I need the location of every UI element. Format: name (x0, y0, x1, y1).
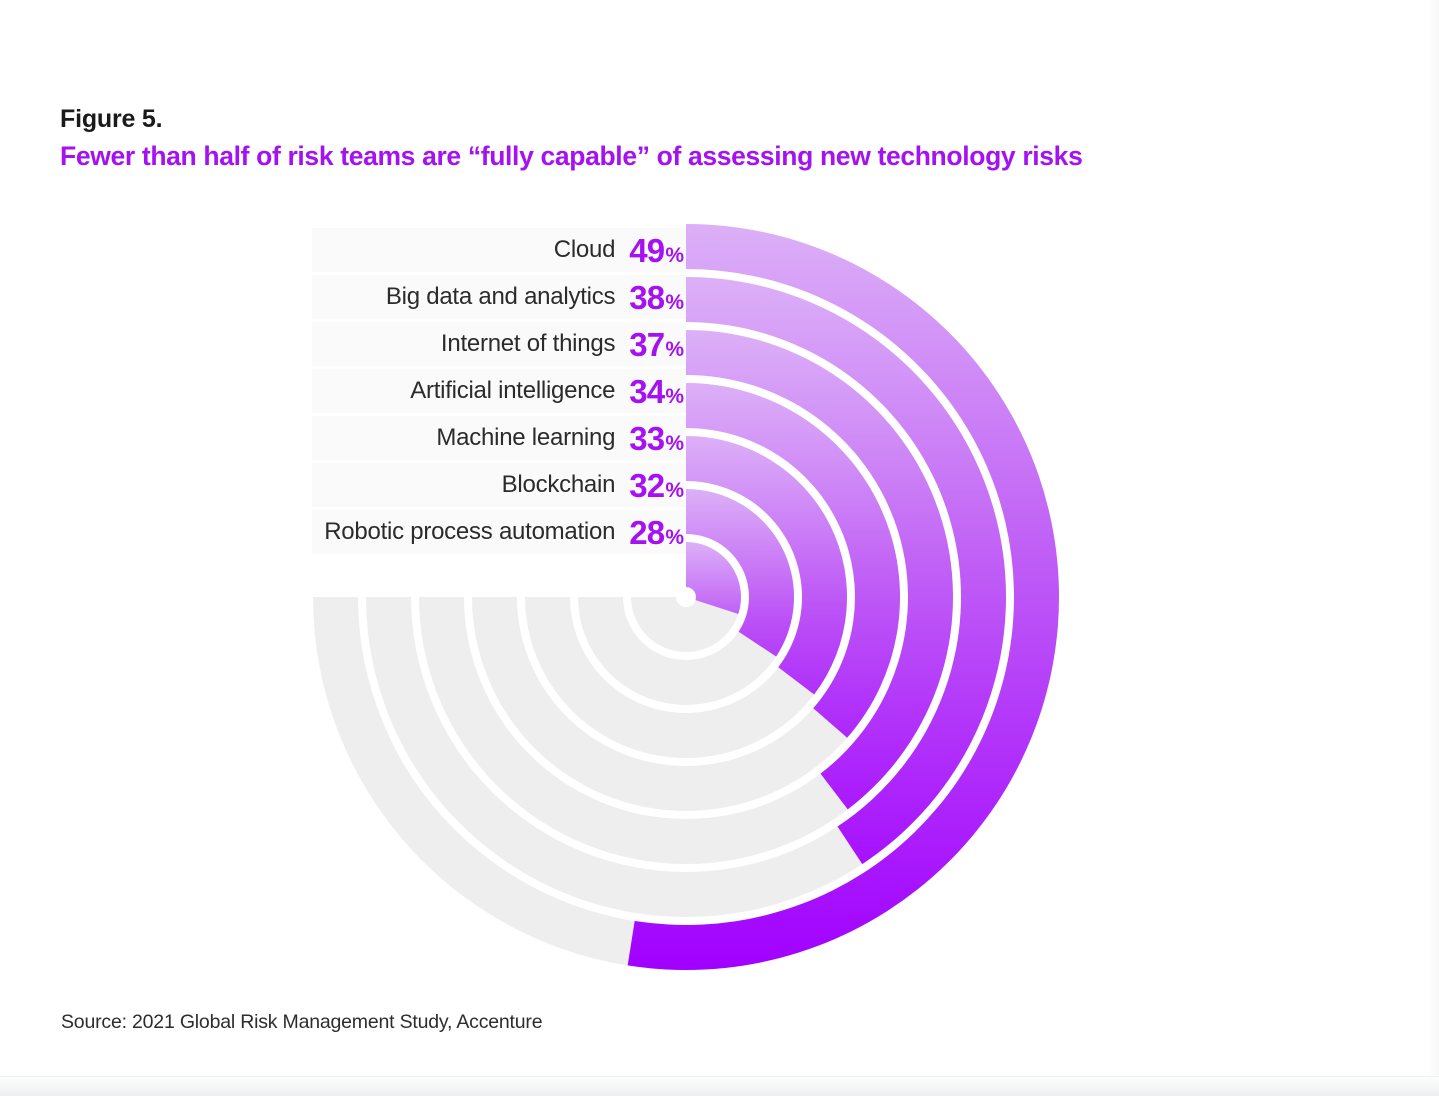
category-label: Robotic process automation (324, 518, 615, 546)
category-label: Cloud (554, 236, 615, 264)
percent-sign: % (665, 339, 684, 360)
value-number: 34 (629, 375, 664, 408)
value-label: 33% (629, 422, 684, 455)
value-label: 49% (629, 234, 684, 267)
page-right-edge (1429, 0, 1439, 1076)
figure-title: Fewer than half of risk teams are “fully… (60, 139, 1360, 173)
category-row: Big data and analytics38% (312, 275, 686, 319)
category-label: Internet of things (441, 330, 615, 358)
category-row: Artificial intelligence34% (312, 369, 686, 413)
figure-header: Figure 5. Fewer than half of risk teams … (60, 103, 1360, 173)
radial-arc-3 (686, 330, 953, 809)
value-number: 33 (629, 422, 664, 455)
radial-arc-4 (686, 383, 900, 738)
percent-sign: % (665, 480, 684, 501)
percent-sign: % (665, 245, 684, 266)
radial-value-arc-group (628, 224, 1059, 970)
percent-sign: % (665, 433, 684, 454)
source-note: Source: 2021 Global Risk Management Stud… (61, 1011, 542, 1034)
value-number: 32 (629, 469, 664, 502)
figure-number: Figure 5. (60, 103, 1360, 136)
radial-arc-7 (686, 542, 741, 614)
value-label: 37% (629, 328, 684, 361)
radial-track-7 (631, 542, 741, 652)
category-row: Internet of things37% (312, 322, 686, 366)
value-number: 38 (629, 281, 664, 314)
category-label-list: Cloud49%Big data and analytics38%Interne… (312, 228, 686, 557)
category-label: Artificial intelligence (410, 377, 615, 405)
value-number: 49 (629, 234, 664, 267)
radial-arc-2 (686, 277, 1006, 864)
page-bottom-edge (0, 1076, 1439, 1096)
value-number: 37 (629, 328, 664, 361)
category-label: Machine learning (436, 424, 615, 452)
radial-arc-1 (628, 224, 1059, 970)
category-label: Blockchain (502, 471, 616, 499)
radial-arc-6 (686, 489, 794, 656)
radial-arc-5 (686, 436, 847, 695)
figure-page: Figure 5. Fewer than half of risk teams … (0, 0, 1439, 1095)
category-row: Robotic process automation28% (312, 510, 686, 554)
percent-sign: % (665, 386, 684, 407)
value-label: 34% (629, 375, 684, 408)
percent-sign: % (665, 527, 684, 548)
value-label: 32% (629, 469, 684, 502)
category-row: Blockchain32% (312, 463, 686, 507)
percent-sign: % (665, 292, 684, 313)
value-label: 28% (629, 516, 684, 549)
category-row: Machine learning33% (312, 416, 686, 460)
value-number: 28 (629, 516, 664, 549)
category-label: Big data and analytics (386, 283, 615, 311)
category-row: Cloud49% (312, 228, 686, 272)
value-label: 38% (629, 281, 684, 314)
